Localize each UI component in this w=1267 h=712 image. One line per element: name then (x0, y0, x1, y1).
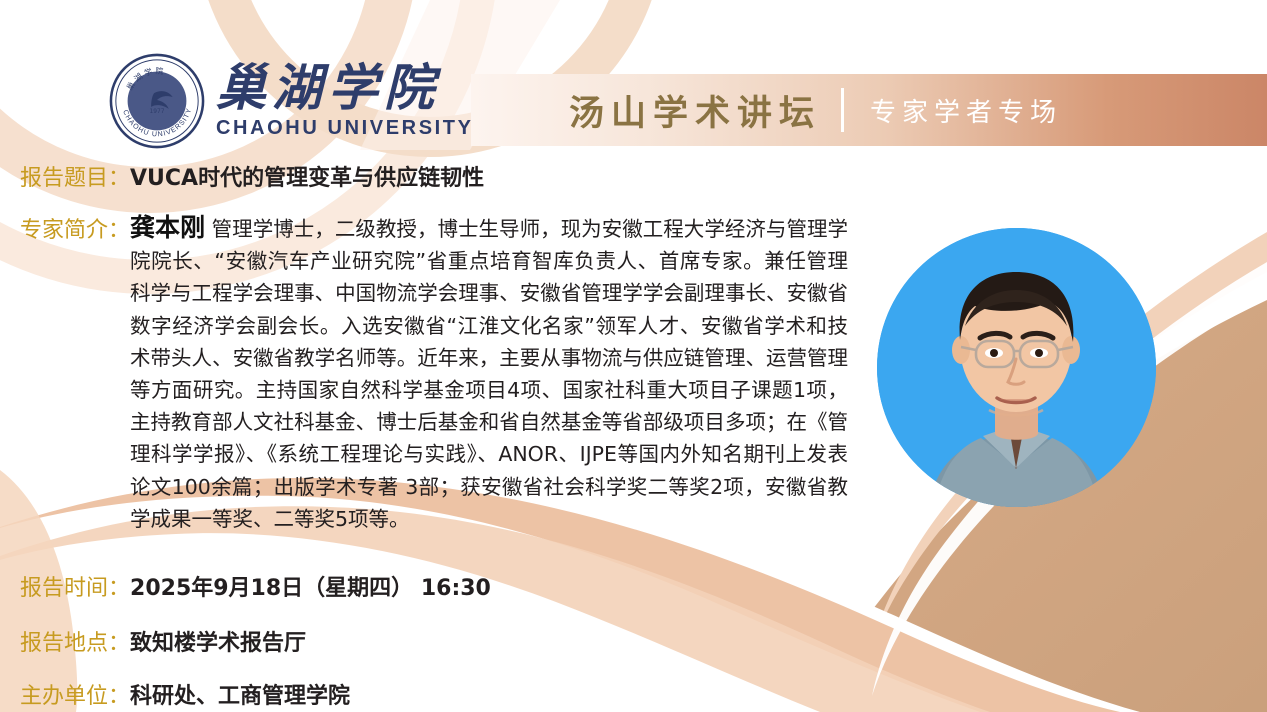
forum-banner-subtitle: 专家学者专场 (870, 92, 1062, 129)
university-name-en: CHAOHU UNIVERSITY (216, 117, 474, 140)
row-report-time: 报告时间： 2025年9月18日（星期四） 16:30 (20, 570, 491, 602)
speaker-bio-text: 龚本刚 管理学博士，二级教授，博士生导师，现为安徽工程大学经济与管理学院院长、“… (130, 212, 848, 535)
university-name-cn: 巢湖学院 (216, 62, 474, 115)
value-report-time: 2025年9月18日（星期四） 16:30 (130, 570, 491, 602)
university-seal-icon: 1977 巢 湖 学 院 CHAOHU UNIVERSITY (108, 52, 206, 150)
svg-text:1977: 1977 (150, 109, 165, 115)
speaker-portrait (877, 228, 1156, 507)
row-organizer: 主办单位： 科研处、工商管理学院 (20, 678, 350, 710)
vertical-divider-icon (841, 88, 844, 132)
label-speaker-bio: 专家简介： (20, 212, 130, 244)
row-report-title: 报告题目： VUCA时代的管理变革与供应链韧性 (20, 160, 484, 192)
speaker-name: 龚本刚 (130, 213, 205, 242)
row-speaker-bio: 专家简介： 龚本刚 管理学博士，二级教授，博士生导师，现为安徽工程大学经济与管理… (20, 212, 848, 535)
label-report-title: 报告题目： (20, 160, 130, 192)
forum-banner-title: 汤山学术讲坛 (569, 85, 821, 136)
label-report-place: 报告地点： (20, 625, 130, 657)
lecture-poster: 1977 巢 湖 学 院 CHAOHU UNIVERSITY 巢湖学院 CHAO… (0, 0, 1267, 712)
value-report-title: VUCA时代的管理变革与供应链韧性 (130, 160, 484, 192)
value-organizer: 科研处、工商管理学院 (130, 678, 350, 710)
label-report-time: 报告时间： (20, 570, 130, 602)
row-report-place: 报告地点： 致知楼学术报告厅 (20, 625, 306, 657)
label-organizer: 主办单位： (20, 678, 130, 710)
speaker-bio-paragraph: 管理学博士，二级教授，博士生导师，现为安徽工程大学经济与管理学院院长、“安徽汽车… (130, 217, 848, 531)
forum-banner: 汤山学术讲坛 专家学者专场 (471, 74, 1267, 146)
speaker-portrait-photo (877, 228, 1156, 507)
university-logo: 1977 巢 湖 学 院 CHAOHU UNIVERSITY 巢湖学院 CHAO… (108, 52, 474, 150)
value-report-place: 致知楼学术报告厅 (130, 625, 306, 657)
